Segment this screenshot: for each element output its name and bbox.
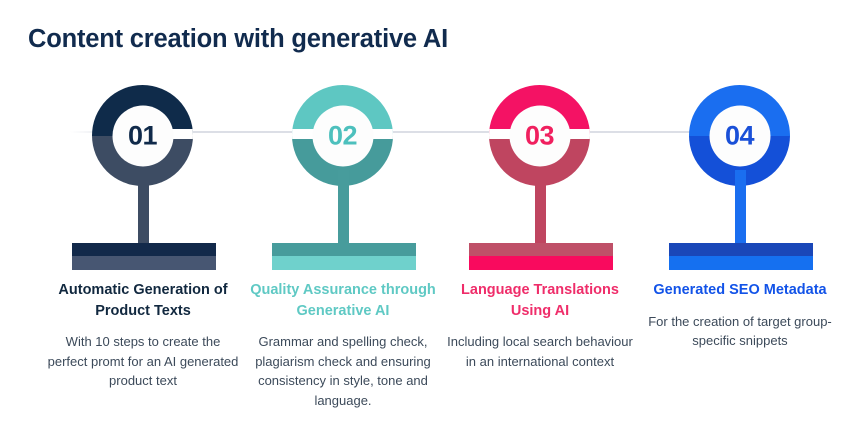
base-top-strip	[272, 243, 416, 256]
infographic-canvas: Content creation with generative AI 01 A…	[0, 0, 853, 432]
step-body-1: With 10 steps to create the perfect prom…	[43, 332, 243, 391]
step-text-3: Language Translations Using AI Including…	[440, 280, 640, 371]
step-graphic-4: 04	[640, 80, 840, 270]
step-heading-2: Quality Assurance through Generative AI	[243, 280, 443, 321]
step-body-3: Including local search behaviour in an i…	[440, 332, 640, 371]
step-stem-3	[535, 170, 546, 246]
step-text-2: Quality Assurance through Generative AI …	[243, 280, 443, 410]
ring-inner-circle: 04	[709, 105, 770, 166]
step-graphic-2: 02	[243, 80, 443, 270]
step-heading-4: Generated SEO Metadata	[640, 280, 840, 301]
base-top-strip	[72, 243, 216, 256]
ring-inner-circle: 01	[112, 105, 173, 166]
base-bottom-strip	[272, 256, 416, 270]
step-body-4: For the creation of target group-specifi…	[640, 312, 840, 351]
step-number-4: 04	[725, 122, 754, 149]
step-number-2: 02	[328, 122, 357, 149]
step-stem-2	[338, 170, 349, 246]
base-bottom-strip	[669, 256, 813, 270]
step-base-1	[72, 243, 216, 270]
base-top-strip	[469, 243, 613, 256]
ring-inner-circle: 02	[312, 105, 373, 166]
step-stem-4	[735, 170, 746, 246]
step-column-2: 02 Quality Assurance through Generative …	[243, 80, 443, 432]
step-base-4	[669, 243, 813, 270]
step-column-3: 03 Language Translations Using AI Includ…	[440, 80, 640, 432]
step-graphic-3: 03	[440, 80, 640, 270]
base-bottom-strip	[469, 256, 613, 270]
step-stem-1	[138, 170, 149, 246]
step-column-4: 04 Generated SEO Metadata For the creati…	[640, 80, 840, 432]
step-heading-3: Language Translations Using AI	[440, 280, 640, 321]
step-text-4: Generated SEO Metadata For the creation …	[640, 280, 840, 351]
ring-inner-circle: 03	[509, 105, 570, 166]
step-number-3: 03	[525, 122, 554, 149]
step-base-3	[469, 243, 613, 270]
page-title: Content creation with generative AI	[28, 25, 448, 54]
base-top-strip	[669, 243, 813, 256]
step-body-2: Grammar and spelling check, plagiarism c…	[243, 332, 443, 410]
step-base-2	[272, 243, 416, 270]
step-number-1: 01	[128, 122, 157, 149]
step-text-1: Automatic Generation of Product Texts Wi…	[43, 280, 243, 391]
base-bottom-strip	[72, 256, 216, 270]
step-graphic-1: 01	[43, 80, 243, 270]
step-heading-1: Automatic Generation of Product Texts	[43, 280, 243, 321]
step-column-1: 01 Automatic Generation of Product Texts…	[43, 80, 243, 432]
